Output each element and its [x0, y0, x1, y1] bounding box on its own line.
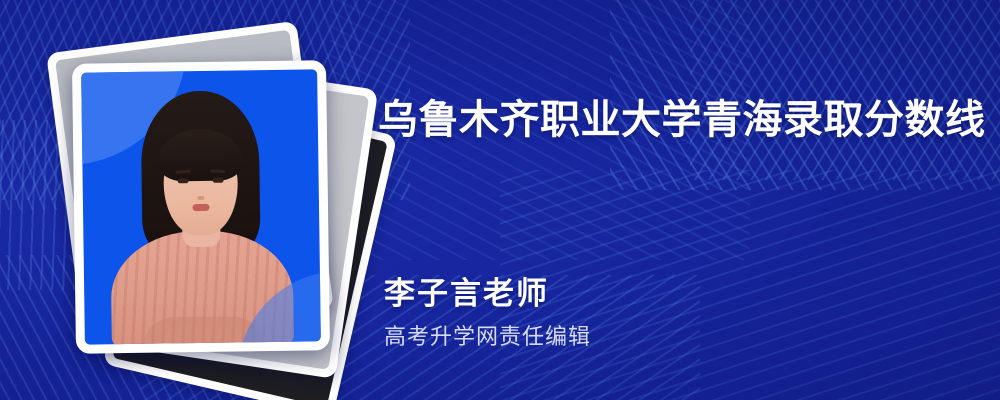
author-photo-card-stack	[48, 48, 348, 360]
banner-text-column: 乌鲁木齐职业大学青海录取分数线 李子言老师 高考升学网责任编辑	[378, 0, 978, 400]
portrait-eye-right	[213, 178, 224, 183]
portrait-mouth	[192, 204, 209, 211]
portrait-waist	[143, 316, 263, 344]
portrait-illustration	[81, 69, 321, 344]
page-title: 乌鲁木齐职业大学青海录取分数线	[378, 96, 986, 144]
article-header-banner: 乌鲁木齐职业大学青海录取分数线 李子言老师 高考升学网责任编辑	[0, 0, 1000, 400]
author-role: 高考升学网责任编辑	[384, 322, 591, 352]
author-portrait-photo	[81, 69, 321, 344]
author-photo-card	[72, 60, 330, 354]
portrait-eye-left	[178, 178, 189, 183]
author-name: 李子言老师	[384, 274, 549, 314]
portrait-nose	[197, 196, 204, 200]
